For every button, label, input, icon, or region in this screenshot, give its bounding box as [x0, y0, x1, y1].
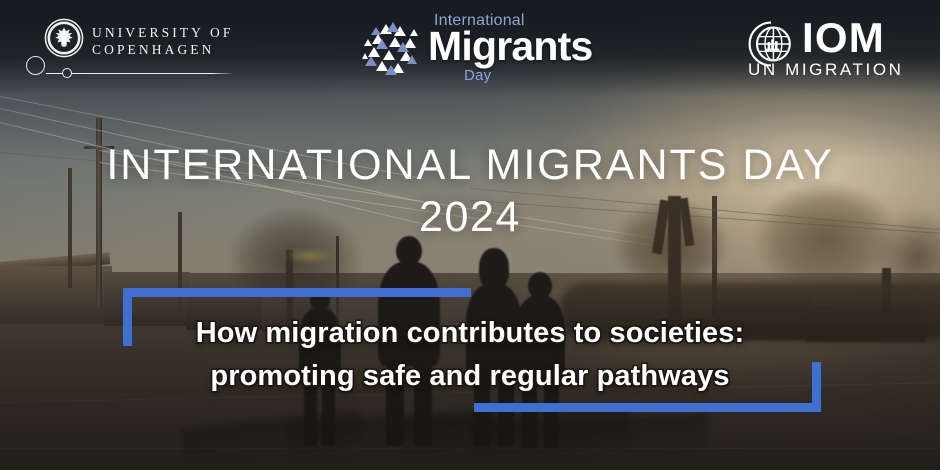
circle-outline-icon [26, 56, 45, 75]
ucph-line-2: COPENHAGEN [92, 41, 233, 58]
ucph-seal-icon [44, 18, 84, 58]
ucph-line-1: UNIVERSITY OF [92, 24, 233, 41]
iom-logo: IOM UN MIGRATION [740, 16, 910, 80]
subtitle-line-2: promoting safe and regular pathways [0, 355, 940, 398]
subtitle: How migration contributes to societies: … [0, 312, 940, 398]
iom-acronym: IOM [802, 15, 885, 61]
subtitle-line-1: How migration contributes to societies: [0, 312, 940, 355]
logo-header: UNIVERSITY OF COPENHAGEN [0, 0, 940, 96]
triangle-cluster-icon [362, 20, 424, 78]
ucph-wordmark: UNIVERSITY OF COPENHAGEN [92, 24, 233, 58]
title-line-2: 2024 [0, 190, 940, 244]
migrants-day-banner: UNIVERSITY OF COPENHAGEN [0, 0, 940, 470]
university-of-copenhagen-logo: UNIVERSITY OF COPENHAGEN [26, 16, 241, 82]
title-line-1: INTERNATIONAL MIGRANTS DAY [0, 140, 940, 190]
main-title: INTERNATIONAL MIGRANTS DAY 2024 [0, 140, 940, 244]
international-migrants-day-logo: International Migrants Day [362, 12, 577, 84]
imd-word-day: Day [464, 67, 491, 84]
imd-word-migrants: Migrants [428, 24, 592, 68]
iom-tagline: UN MIGRATION [748, 60, 904, 80]
ucph-rule-divider [46, 73, 234, 74]
circle-dot-icon [62, 68, 72, 78]
